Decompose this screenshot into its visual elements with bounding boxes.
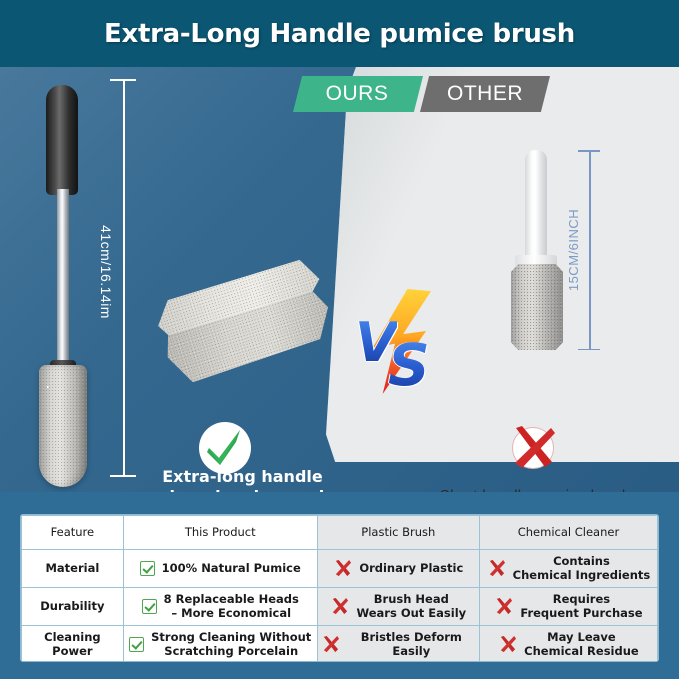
dimension-vertical-line bbox=[589, 150, 591, 350]
cell-chemical-cleaner: ContainsChemical Ingredients bbox=[479, 550, 657, 588]
cell-plastic-brush: Brush HeadWears Out Easily bbox=[317, 588, 479, 626]
short-brush-dimension-line bbox=[578, 150, 600, 350]
x-mark-icon bbox=[487, 559, 506, 578]
cell-text: 8 Replaceable Heads– More Economical bbox=[164, 593, 299, 621]
brush-handle-grip bbox=[46, 85, 78, 195]
table-row: Durability8 Replaceable Heads– More Econ… bbox=[22, 588, 658, 626]
brush-pumice-head bbox=[39, 365, 87, 487]
banner-ours-label: OURS bbox=[293, 76, 423, 112]
x-mark-icon bbox=[330, 597, 349, 616]
feature-comparison-table: Feature This Product Plastic Brush Chemi… bbox=[21, 515, 658, 662]
dimension-vertical-line bbox=[123, 79, 125, 477]
table-row: Material100% Natural PumiceOrdinary Plas… bbox=[22, 550, 658, 588]
banner-other-label: OTHER bbox=[420, 76, 550, 112]
x-mark-icon bbox=[321, 635, 340, 654]
cell-this-product: 8 Replaceable Heads– More Economical bbox=[123, 588, 317, 626]
table-body: Material100% Natural PumiceOrdinary Plas… bbox=[22, 550, 658, 663]
vs-letter-s: S bbox=[388, 331, 430, 399]
cell-chemical-cleaner: RequiresFrequent Purchase bbox=[479, 588, 657, 626]
dimension-cap-bottom bbox=[110, 475, 136, 477]
column-header-feature: Feature bbox=[22, 516, 124, 550]
vs-lightning-icon: V S bbox=[355, 289, 445, 394]
cell-this-product: Strong Cleaning WithoutScratching Porcel… bbox=[123, 626, 317, 663]
cell-feature: Material bbox=[22, 550, 124, 588]
check-mark-icon bbox=[142, 599, 157, 614]
cell-text: Ordinary Plastic bbox=[359, 562, 463, 576]
check-mark-icon bbox=[129, 637, 144, 652]
table-row: Cleaning PowerStrong Cleaning WithoutScr… bbox=[22, 626, 658, 663]
cell-text: 100% Natural Pumice bbox=[162, 562, 301, 576]
column-header-plastic-brush: Plastic Brush bbox=[317, 516, 479, 550]
short-brush-plastic-handle bbox=[525, 150, 547, 262]
long-brush-caption: Extra-long handle makes cleaning easier … bbox=[135, 467, 350, 492]
column-header-this-product: This Product bbox=[123, 516, 317, 550]
cell-text: Bristles Deform Easily bbox=[347, 631, 476, 659]
x-mark-icon bbox=[498, 635, 517, 654]
x-mark-glyph bbox=[507, 422, 559, 474]
check-mark-icon bbox=[140, 561, 155, 576]
short-brush-caption: Short handle pumice brush bbox=[400, 487, 670, 492]
cell-plastic-brush: Ordinary Plastic bbox=[317, 550, 479, 588]
cell-text: Strong Cleaning WithoutScratching Porcel… bbox=[151, 631, 311, 659]
cell-text: May LeaveChemical Residue bbox=[524, 631, 639, 659]
pumice-stone-block-icon bbox=[146, 248, 348, 403]
short-brush-pumice-head bbox=[511, 264, 563, 350]
table-header-row: Feature This Product Plastic Brush Chemi… bbox=[22, 516, 658, 550]
cell-text: ContainsChemical Ingredients bbox=[513, 555, 651, 583]
cell-chemical-cleaner: May LeaveChemical Residue bbox=[479, 626, 657, 663]
cell-this-product: 100% Natural Pumice bbox=[123, 550, 317, 588]
cell-feature: Durability bbox=[22, 588, 124, 626]
page-title: Extra-Long Handle pumice brush bbox=[104, 19, 575, 49]
cell-text: Brush HeadWears Out Easily bbox=[356, 593, 466, 621]
column-header-chemical-cleaner: Chemical Cleaner bbox=[479, 516, 657, 550]
comparison-table: Feature This Product Plastic Brush Chemi… bbox=[20, 514, 659, 662]
short-handle-pumice-brush-icon bbox=[505, 150, 571, 350]
x-mark-icon bbox=[494, 597, 513, 616]
x-mark-icon bbox=[333, 559, 352, 578]
cell-text: RequiresFrequent Purchase bbox=[520, 593, 642, 621]
short-brush-dimension-label: 15CM/6INCH bbox=[566, 209, 581, 291]
comparison-area: OURS OTHER 41cm/16.14im V S 15CM/6INCH bbox=[0, 67, 679, 492]
dimension-cap-bottom bbox=[578, 349, 600, 351]
check-mark-glyph bbox=[206, 428, 244, 468]
red-x-circle-icon bbox=[507, 422, 559, 474]
long-handle-pumice-brush-icon bbox=[35, 77, 95, 477]
other-product-panel bbox=[326, 67, 679, 462]
page-header: Extra-Long Handle pumice brush bbox=[0, 0, 679, 67]
cell-feature: Cleaning Power bbox=[22, 626, 124, 663]
brush-steel-rod bbox=[57, 189, 69, 369]
cell-plastic-brush: Bristles Deform Easily bbox=[317, 626, 479, 663]
long-brush-dimension-label: 41cm/16.14im bbox=[98, 225, 114, 319]
